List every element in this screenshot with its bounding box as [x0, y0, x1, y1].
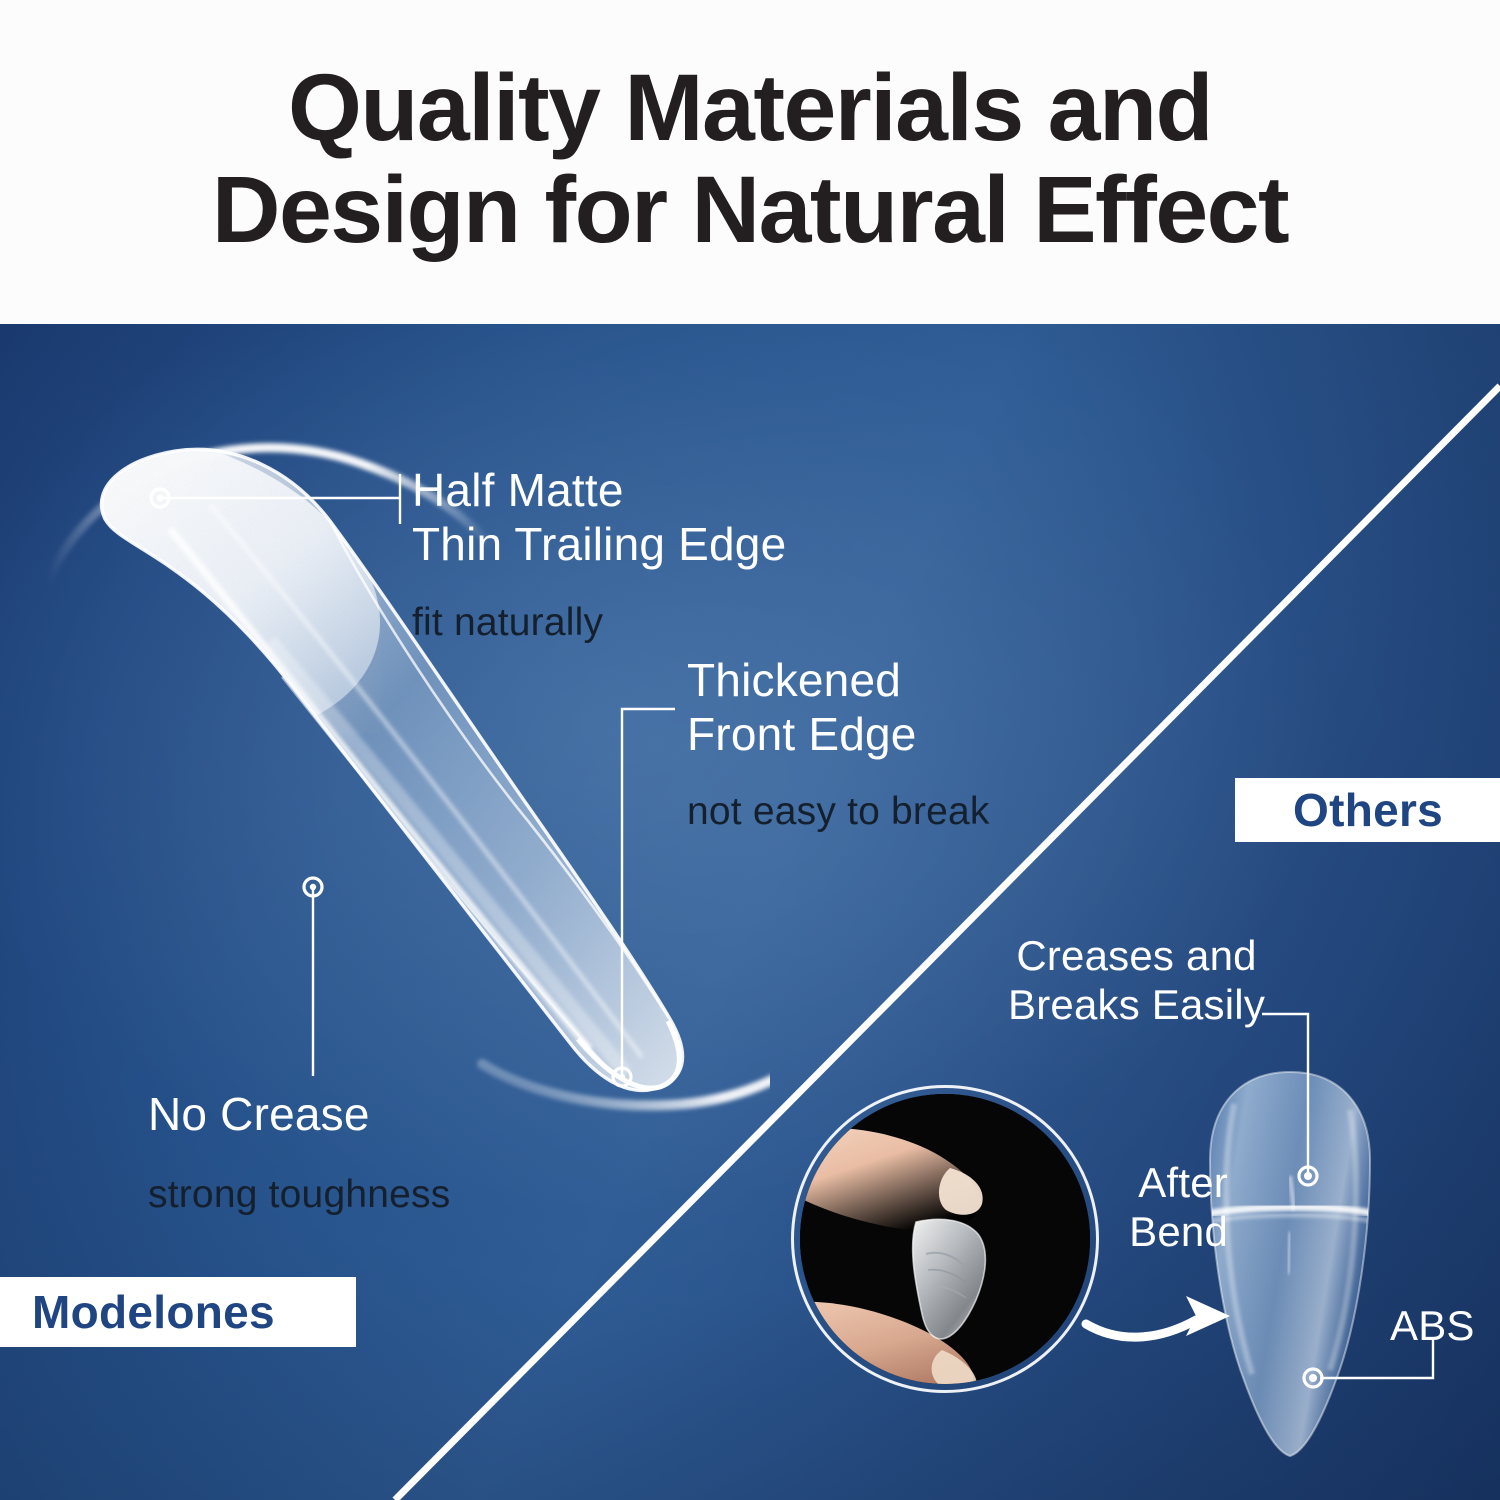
photo-circle-ring	[791, 1085, 1099, 1393]
leader-creases	[1262, 1014, 1308, 1174]
label-half-matte-subtitle: fit naturally	[412, 601, 603, 646]
comparison-panel: Half Matte Thin Trailing Edge fit natura…	[0, 324, 1500, 1500]
after-bend-arrow-head	[1186, 1296, 1230, 1336]
label-thickened-title: Thickened Front Edge	[687, 654, 917, 762]
page-title: Quality Materials and Design for Natural…	[0, 58, 1500, 261]
badge-others: Others	[1235, 778, 1500, 842]
bend-demo-photo	[800, 1094, 1090, 1384]
label-creases-breaks: Creases and Breaks Easily	[1008, 932, 1265, 1029]
leader-thickened	[622, 709, 675, 1076]
label-thickened-subtitle: not easy to break	[687, 790, 990, 835]
abs-nail-tip-image	[1190, 1064, 1390, 1464]
label-abs: ABS	[1390, 1302, 1475, 1351]
label-half-matte-title: Half Matte Thin Trailing Edge	[412, 464, 786, 572]
header-band: Quality Materials and Design for Natural…	[0, 0, 1500, 324]
after-bend-arrow-shaft	[1086, 1320, 1196, 1337]
badge-modelones: Modelones	[0, 1277, 356, 1347]
label-after-bend: After Bend	[1098, 1159, 1228, 1256]
label-no-crease-title: No Crease	[148, 1088, 370, 1142]
infographic-page: Quality Materials and Design for Natural…	[0, 0, 1500, 1500]
label-no-crease-subtitle: strong toughness	[148, 1173, 450, 1218]
